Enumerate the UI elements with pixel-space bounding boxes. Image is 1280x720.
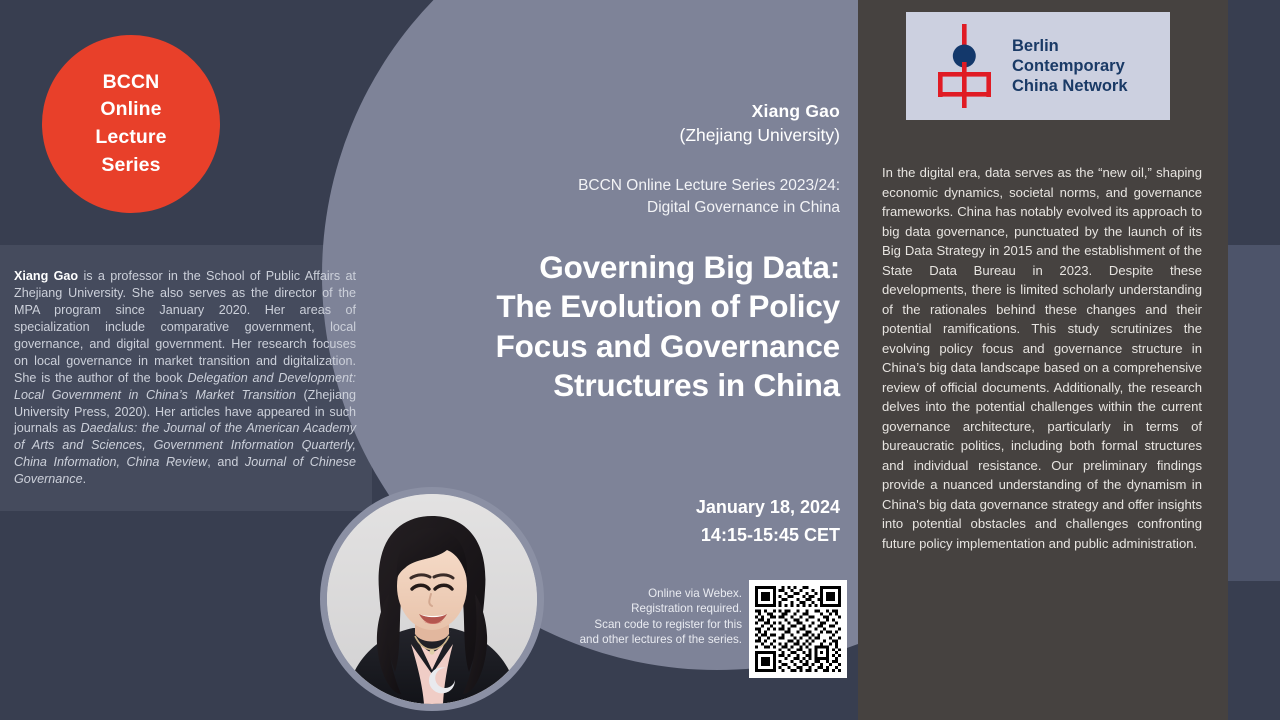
avatar xyxy=(327,494,537,704)
right-background-strip xyxy=(1228,245,1280,581)
talk-title-line-2: The Evolution of Policy xyxy=(400,287,840,326)
speaker-name: Xiang Gao xyxy=(420,100,840,124)
talk-title-line-3: Focus and Governance xyxy=(400,327,840,366)
badge-line-3: Lecture xyxy=(95,124,166,152)
registration-line-1: Online via Webex. xyxy=(520,586,742,601)
speaker-affiliation: (Zhejiang University) xyxy=(420,124,840,148)
talk-title-line-1: Governing Big Data: xyxy=(400,248,840,287)
badge-line-1: BCCN xyxy=(95,69,166,97)
bccn-logo-line-1: Berlin Contemporary xyxy=(1012,36,1170,76)
talk-title-line-4: Structures in China xyxy=(400,366,840,405)
bio-part-4: . xyxy=(83,472,87,486)
bio-speaker-name: Xiang Gao xyxy=(14,269,78,283)
bio-part-1: is a professor in the School of Public A… xyxy=(14,269,356,385)
registration-line-2: Registration required. xyxy=(520,601,742,616)
speaker-photo xyxy=(327,494,537,704)
speaker-bio: Xiang Gao is a professor in the School o… xyxy=(14,268,356,488)
registration-line-4: and other lectures of the series. xyxy=(520,632,742,647)
qr-code[interactable] xyxy=(755,586,841,672)
zhong-character-icon xyxy=(922,22,1008,110)
bccn-logo: Berlin Contemporary China Network xyxy=(906,12,1170,120)
poster-canvas: BCCN Online Lecture Series Xiang Gao is … xyxy=(0,0,1280,720)
abstract-text: In the digital era, data serves as the “… xyxy=(882,163,1202,553)
speaker-portrait-frame xyxy=(320,487,544,711)
badge-line-4: Series xyxy=(95,152,166,180)
bccn-logo-mark-icon xyxy=(922,22,1008,110)
registration-instructions: Online via Webex. Registration required.… xyxy=(520,586,742,648)
series-line-1: BCCN Online Lecture Series 2023/24: xyxy=(420,175,840,197)
bio-part-3: , and xyxy=(207,455,245,469)
series-line-2: Digital Governance in China xyxy=(420,197,840,219)
series-badge: BCCN Online Lecture Series xyxy=(42,35,220,213)
bccn-logo-line-2: China Network xyxy=(1012,76,1170,96)
badge-line-2: Online xyxy=(95,96,166,124)
registration-line-3: Scan code to register for this xyxy=(520,617,742,632)
talk-title: Governing Big Data: The Evolution of Pol… xyxy=(400,248,840,406)
bccn-logo-text: Berlin Contemporary China Network xyxy=(1012,36,1170,96)
series-subtitle: BCCN Online Lecture Series 2023/24: Digi… xyxy=(420,175,840,219)
speaker-heading: Xiang Gao (Zhejiang University) xyxy=(420,100,840,147)
series-badge-label: BCCN Online Lecture Series xyxy=(95,69,166,180)
